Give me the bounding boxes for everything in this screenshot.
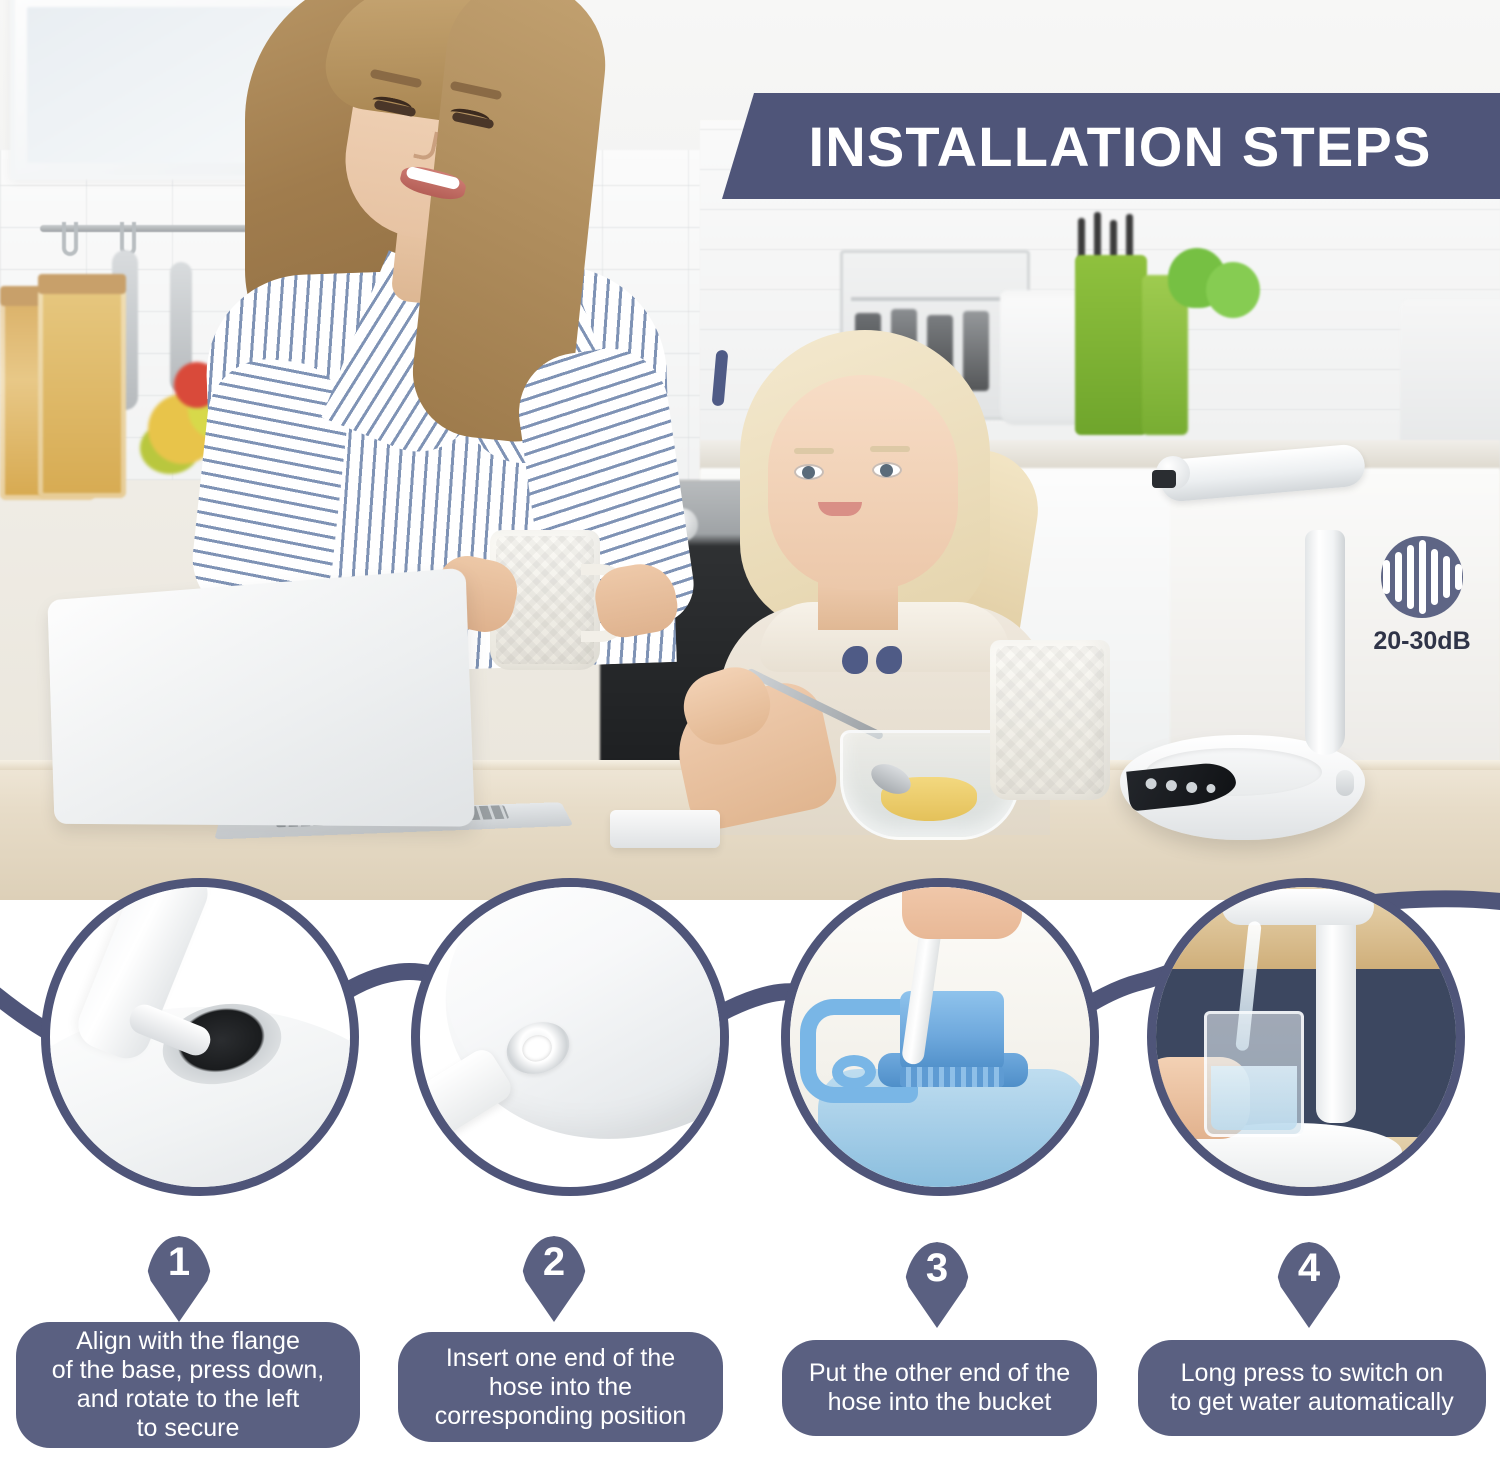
- step-2-caption-text: Insert one end of the hose into the corr…: [435, 1344, 687, 1431]
- page-title: INSTALLATION STEPS: [794, 114, 1431, 179]
- hero-photo: INSTALLATION STEPS 20-30dB: [0, 0, 1500, 900]
- white-mug: [990, 640, 1110, 800]
- step-4-image: [1147, 878, 1465, 1196]
- nozzle-icon: [1152, 470, 1176, 488]
- step-3-caption: Put the other end of the hose into the b…: [782, 1340, 1097, 1436]
- step-4-number: 4: [1276, 1248, 1342, 1288]
- step-3-number: 3: [904, 1248, 970, 1288]
- noise-level-label: 20-30dB: [1373, 627, 1470, 656]
- step-3-number-pin: 3: [904, 1242, 970, 1328]
- step-4-number-pin: 4: [1276, 1242, 1342, 1328]
- infographic-page: INSTALLATION STEPS 20-30dB: [0, 0, 1500, 1459]
- step-3-caption-text: Put the other end of the hose into the b…: [809, 1359, 1070, 1417]
- pantry-jar: [38, 288, 126, 498]
- title-banner: INSTALLATION STEPS: [722, 93, 1500, 199]
- step-4-caption-text: Long press to switch on to get water aut…: [1170, 1359, 1453, 1417]
- green-utensil-icon: [1206, 262, 1260, 318]
- blue-bow: [842, 646, 902, 674]
- rail-hook-icon: [62, 222, 78, 256]
- girl-figure: [690, 330, 1120, 800]
- step-2-number: 2: [521, 1242, 587, 1282]
- sound-wave-icon: [1381, 536, 1463, 618]
- laptop: [20, 585, 580, 865]
- step-1-number-pin: 1: [146, 1236, 212, 1322]
- installation-steps-section: 1 2 3 4 Align with the flange of the bas…: [0, 860, 1500, 1459]
- step-2-number-pin: 2: [521, 1236, 587, 1322]
- step-1-number: 1: [146, 1242, 212, 1282]
- step-1-caption: Align with the flange of the base, press…: [16, 1322, 360, 1448]
- step-4-caption: Long press to switch on to get water aut…: [1138, 1340, 1486, 1436]
- step-2-caption: Insert one end of the hose into the corr…: [398, 1332, 723, 1442]
- woman-figure: [200, 0, 670, 650]
- power-button[interactable]: [1336, 770, 1354, 796]
- smartphone: [610, 810, 720, 848]
- step-3-image: [781, 878, 1099, 1196]
- step-1-caption-text: Align with the flange of the base, press…: [52, 1327, 324, 1443]
- step-1-image: [41, 878, 359, 1196]
- noise-level-badge: 20-30dB: [1367, 536, 1477, 664]
- step-2-image: [411, 878, 729, 1196]
